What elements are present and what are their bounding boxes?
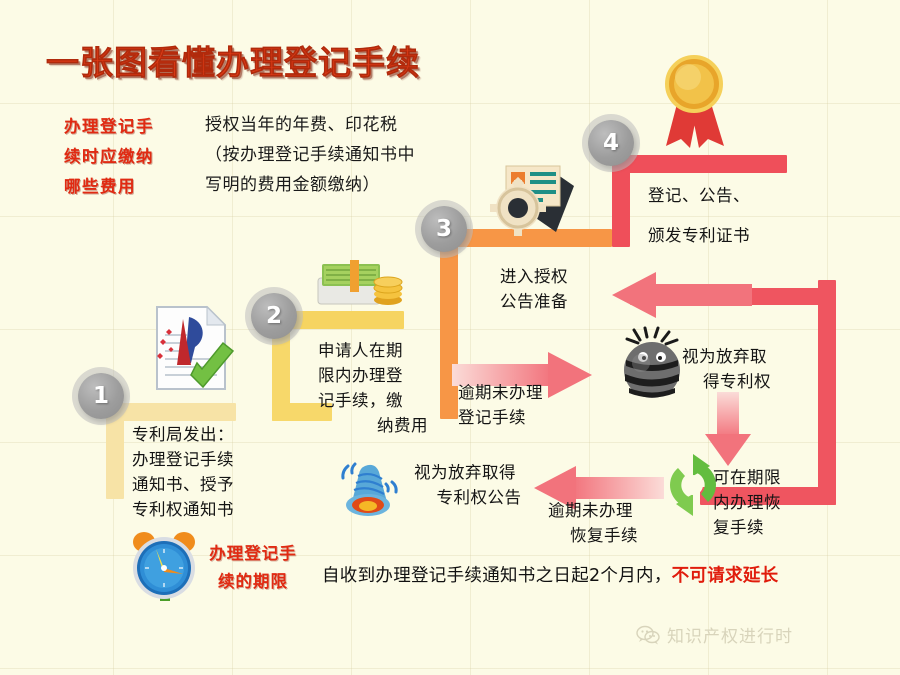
page-title: 一张图看懂办理登记手续 bbox=[46, 36, 420, 84]
watermark: 知识产权进行时 bbox=[636, 622, 793, 647]
step-1-line-1: 专利局发出： bbox=[132, 422, 302, 447]
label-line-2: 登记手续 bbox=[458, 405, 588, 430]
label-line-2: 得专利权 bbox=[682, 369, 792, 394]
watermark-text: 知识产权进行时 bbox=[667, 622, 793, 647]
arrow-shaft bbox=[572, 477, 664, 499]
gold-medal-ribbon-icon bbox=[648, 42, 740, 152]
wechat-icon bbox=[636, 625, 660, 645]
cash-coins-icon bbox=[314, 256, 410, 316]
arrow-to-publication-prep bbox=[612, 272, 752, 318]
return-path-vertical bbox=[818, 280, 836, 505]
announcement-bell-icon bbox=[336, 458, 406, 524]
step-2-line-4: 纳费用 bbox=[318, 413, 428, 438]
step-3-line-2: 公告准备 bbox=[500, 289, 620, 314]
label-line-1: 逾期未办理 bbox=[458, 380, 588, 405]
infographic-canvas: 一张图看懂办理登记手续 办理登记手 续时应缴纳 哪些费用 授权当年的年费、印花税… bbox=[0, 0, 900, 675]
step-badge-2[interactable]: 2 bbox=[251, 293, 297, 339]
deadline-label-line-1: 办理登记手 bbox=[188, 540, 318, 568]
step-2-line-1: 申请人在期 bbox=[318, 338, 428, 363]
label-line-2: 专利权公告 bbox=[414, 485, 544, 510]
step-4-line-1: 登记、公告、 bbox=[648, 176, 838, 216]
label-line-2: 恢复手续 bbox=[548, 523, 660, 548]
deadline-main-text: 自收到办理登记手续通知书之日起2个月内， bbox=[322, 566, 672, 586]
step-1-text: 专利局发出： 办理登记手续 通知书、授予 专利权通知书 bbox=[132, 422, 302, 522]
step-1-line-4: 专利权通知书 bbox=[132, 497, 302, 522]
deadline-text: 自收到办理登记手续通知书之日起2个月内，不可请求延长 bbox=[322, 562, 882, 587]
fee-answer-line-1: 授权当年的年费、印花税 bbox=[205, 110, 505, 140]
step-3-text: 进入授权 公告准备 bbox=[500, 264, 620, 314]
label-line-1: 可在期限 bbox=[713, 465, 809, 490]
label-restore-within-period: 可在期限 内办理恢 复手续 bbox=[713, 465, 809, 540]
connector-step-1-horizontal bbox=[106, 403, 236, 421]
step-3-line-1: 进入授权 bbox=[500, 264, 620, 289]
arrow-shaft bbox=[717, 392, 739, 438]
label-line-1: 视为放弃取 bbox=[682, 344, 792, 369]
arrow-shaft bbox=[652, 284, 752, 306]
label-line-3: 复手续 bbox=[713, 515, 809, 540]
step-4-line-2: 颁发专利证书 bbox=[648, 216, 838, 256]
connector-step-4-horizontal bbox=[612, 155, 787, 173]
deadline-label-line-2: 续的期限 bbox=[188, 568, 318, 596]
label-deemed-abandon-notice: 视为放弃取得 专利权公告 bbox=[414, 460, 544, 510]
step-2-line-3: 记手续，缴 bbox=[318, 388, 428, 413]
deadline-warning-text: 不可请求延长 bbox=[672, 566, 779, 586]
step-2-line-2: 限内办理登 bbox=[318, 363, 428, 388]
label-overdue-restoration: 逾期未办理 恢复手续 bbox=[548, 498, 660, 548]
deadline-label: 办理登记手 续的期限 bbox=[188, 540, 318, 596]
label-overdue-registration: 逾期未办理 登记手续 bbox=[458, 380, 588, 430]
arrow-head bbox=[612, 272, 656, 318]
fee-label-line-3: 哪些费用 bbox=[64, 172, 204, 202]
arrow-head bbox=[705, 434, 751, 466]
fee-question-label: 办理登记手 续时应缴纳 哪些费用 bbox=[64, 112, 204, 202]
fee-answer-line-3: 写明的费用金额缴纳） bbox=[205, 170, 505, 200]
step-badge-3[interactable]: 3 bbox=[421, 206, 467, 252]
fee-answer-text: 授权当年的年费、印花税 （按办理登记手续通知书中 写明的费用金额缴纳） bbox=[205, 110, 505, 200]
step-2-text: 申请人在期 限内办理登 记手续，缴 纳费用 bbox=[318, 338, 428, 438]
step-1-line-3: 通知书、授予 bbox=[132, 472, 302, 497]
label-line-1: 逾期未办理 bbox=[548, 498, 660, 523]
step-badge-1[interactable]: 1 bbox=[78, 373, 124, 419]
label-deemed-abandon-right: 视为放弃取 得专利权 bbox=[682, 344, 792, 394]
fee-label-line-1: 办理登记手 bbox=[64, 112, 204, 142]
label-line-2: 内办理恢 bbox=[713, 490, 809, 515]
step-badge-4[interactable]: 4 bbox=[588, 120, 634, 166]
gear-documents-icon bbox=[490, 160, 586, 242]
fee-label-line-2: 续时应缴纳 bbox=[64, 142, 204, 172]
step-4-text: 登记、公告、 颁发专利证书 bbox=[648, 176, 838, 256]
bomb-icon bbox=[614, 326, 690, 402]
fee-answer-line-2: （按办理登记手续通知书中 bbox=[205, 140, 505, 170]
label-line-1: 视为放弃取得 bbox=[414, 460, 544, 485]
step-1-line-2: 办理登记手续 bbox=[132, 447, 302, 472]
arrow-to-restore-procedure bbox=[705, 392, 751, 466]
patent-document-check-icon bbox=[143, 303, 239, 395]
